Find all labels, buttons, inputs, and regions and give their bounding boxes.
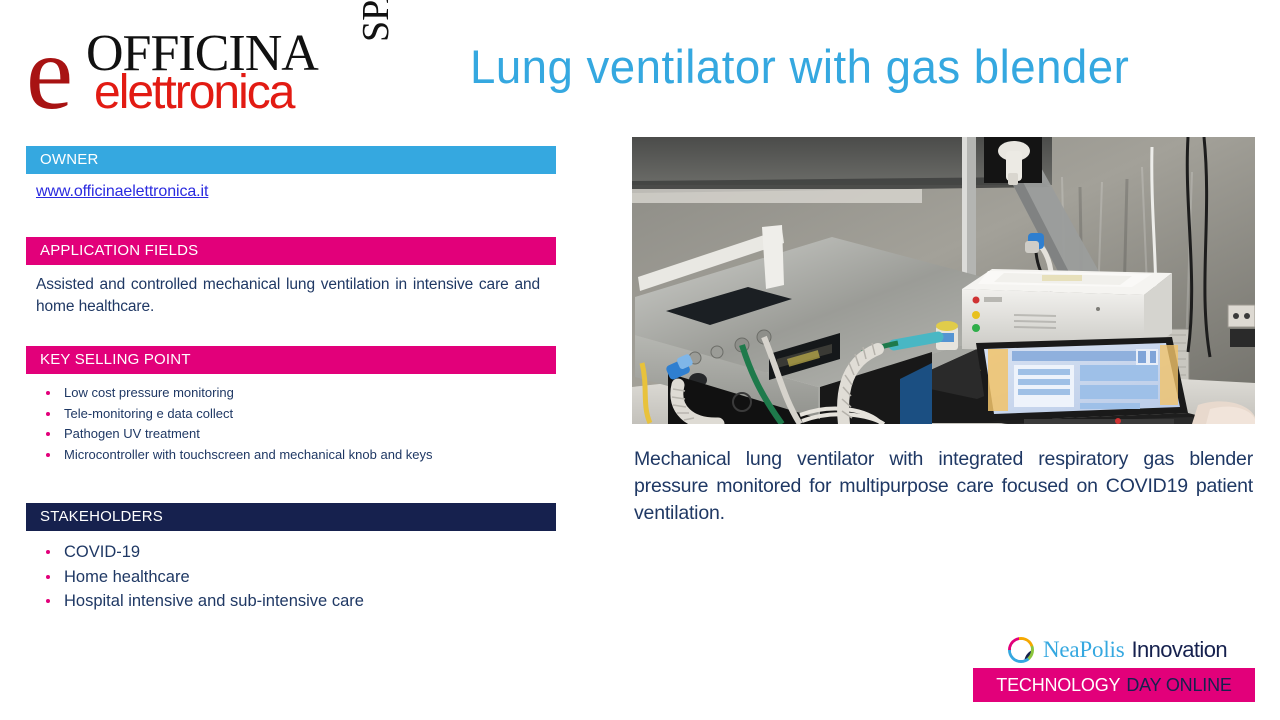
section-owner: OWNER www.officinaelettronica.it — [26, 146, 556, 201]
list-item: COVID-19 — [36, 540, 546, 565]
stakeholders-list: COVID-19 Home healthcare Hospital intens… — [36, 540, 546, 614]
spacer-owner-to-application — [26, 201, 556, 237]
list-item: Low cost pressure monitoring — [36, 383, 546, 404]
logo-elettronica-text: elettronica — [94, 69, 293, 117]
section-header-application-fields: APPLICATION FIELDS — [26, 237, 556, 265]
list-item: Hospital intensive and sub-intensive car… — [36, 589, 546, 614]
brand-innovation-text: Innovation — [1131, 637, 1227, 663]
neapolis-logo-icon — [1008, 637, 1034, 663]
section-body-application-fields: Assisted and controlled mechanical lung … — [26, 265, 556, 318]
company-logo: e OFFICINA elettronica SPA — [26, 22, 406, 122]
section-key-selling-point: KEY SELLING POINT Low cost pressure moni… — [26, 346, 556, 465]
application-fields-paragraph: Assisted and controlled mechanical lung … — [36, 274, 546, 318]
section-header-owner: OWNER — [26, 146, 556, 174]
section-stakeholders: STAKEHOLDERS COVID-19 Home healthcare Ho… — [26, 503, 556, 614]
spacer-application-to-ksp — [26, 318, 556, 346]
badge-technology-text: TECHNOLOGY — [996, 675, 1120, 696]
lab-setup-illustration — [632, 137, 1255, 424]
badge-day-online-text: DAY ONLINE — [1126, 675, 1231, 696]
list-item: Microcontroller with touchscreen and mec… — [36, 445, 546, 466]
section-header-key-selling-point: KEY SELLING POINT — [26, 346, 556, 374]
list-item: Home healthcare — [36, 565, 546, 590]
logo-spa-text: SPA — [357, 0, 395, 42]
left-content-column: OWNER www.officinaelettronica.it APPLICA… — [26, 146, 556, 614]
photo-caption: Mechanical lung ventilator with integrat… — [634, 446, 1253, 527]
section-body-key-selling-point: Low cost pressure monitoring Tele-monito… — [26, 374, 556, 465]
list-item: Tele-monitoring e data collect — [36, 404, 546, 425]
product-photo — [632, 137, 1255, 424]
spacer-ksp-to-stakeholders — [26, 465, 556, 503]
section-header-stakeholders: STAKEHOLDERS — [26, 503, 556, 531]
key-selling-point-list: Low cost pressure monitoring Tele-monito… — [36, 383, 546, 465]
brand-neapolis-text: NeaPolis — [1043, 637, 1124, 663]
list-item: Pathogen UV treatment — [36, 424, 546, 445]
section-body-owner: www.officinaelettronica.it — [26, 174, 556, 201]
section-body-stakeholders: COVID-19 Home healthcare Hospital intens… — [26, 531, 556, 614]
section-application-fields: APPLICATION FIELDS Assisted and controll… — [26, 237, 556, 318]
owner-website-link[interactable]: www.officinaelettronica.it — [36, 183, 208, 200]
neapolis-brand-row: NeaPolis Innovation — [1008, 634, 1227, 666]
technology-day-badge: TECHNOLOGY DAY ONLINE — [973, 668, 1255, 702]
page-title: Lung ventilator with gas blender — [470, 36, 1236, 98]
